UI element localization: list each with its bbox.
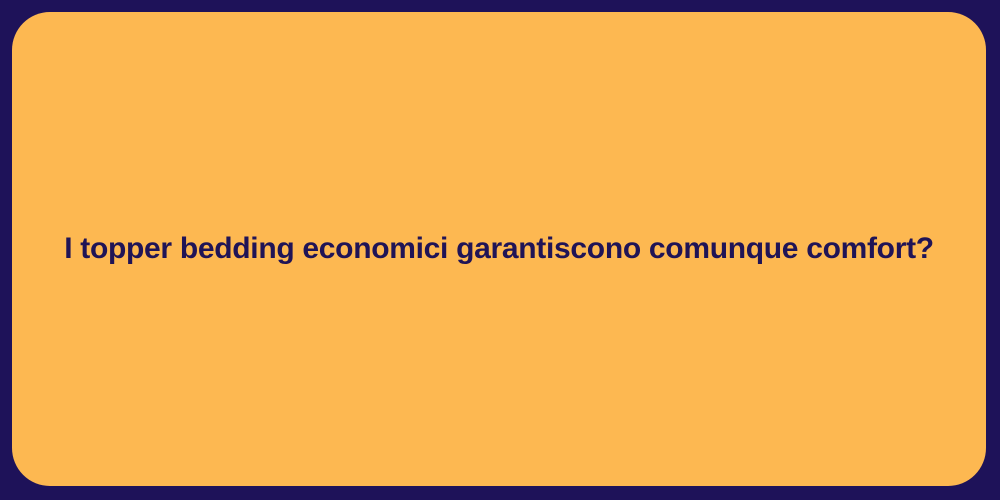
faq-question-text: I topper bedding economici garantiscono … — [12, 230, 986, 268]
faq-frame: I topper bedding economici garantiscono … — [0, 0, 1000, 500]
faq-card: I topper bedding economici garantiscono … — [12, 12, 986, 486]
